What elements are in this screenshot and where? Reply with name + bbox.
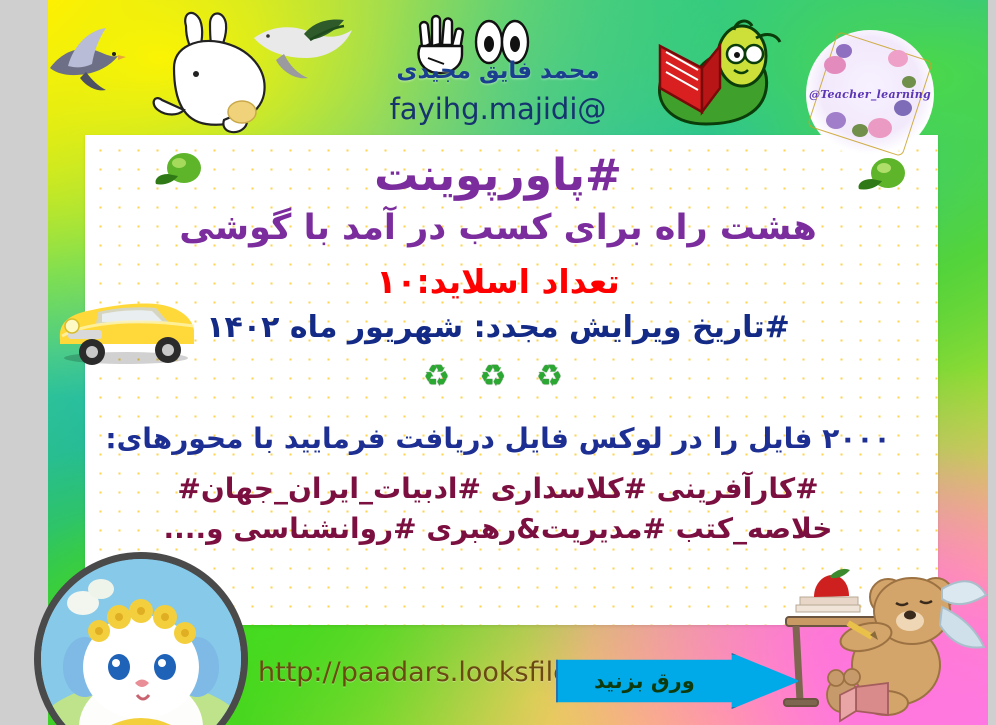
next-page-label: ورق بزنید (558, 669, 731, 693)
title-powerpoint: #پاورپوینت (0, 150, 996, 201)
body-hashtags-1: #کارآفرینی #کلاسداری #ادبیات_ایران_جهان# (0, 472, 996, 505)
promo-slide: @Teacher_learning (0, 0, 996, 725)
recycle-icon: ♻ ♻ ♻ (423, 359, 573, 394)
author-name: محمد فایق مجیدی (0, 58, 996, 84)
slide-count-label: تعداد اسلاید:۱۰ (0, 262, 996, 301)
recycle-icons: ♻ ♻ ♻ (0, 362, 996, 392)
body-line-1: ۲۰۰۰ فایل را در لوکس فایل دریافت فرمایید… (0, 422, 996, 455)
flower-petal (836, 44, 852, 58)
site-url-link[interactable]: http://paadars.looksfile.ir (258, 657, 597, 688)
body-hashtags-2: خلاصه_کتب #مدیریت&رهبری #روانشناسی و.... (0, 512, 996, 545)
puppy-avatar-image (41, 559, 241, 725)
author-handle: fayihg.majidi@ (0, 92, 996, 126)
revision-date: #تاریخ ویرایش مجدد: شهریور ماه ۱۴۰۲ (0, 310, 996, 345)
title-subtitle: هشت راه برای کسب در آمد با گوشی (0, 208, 996, 248)
